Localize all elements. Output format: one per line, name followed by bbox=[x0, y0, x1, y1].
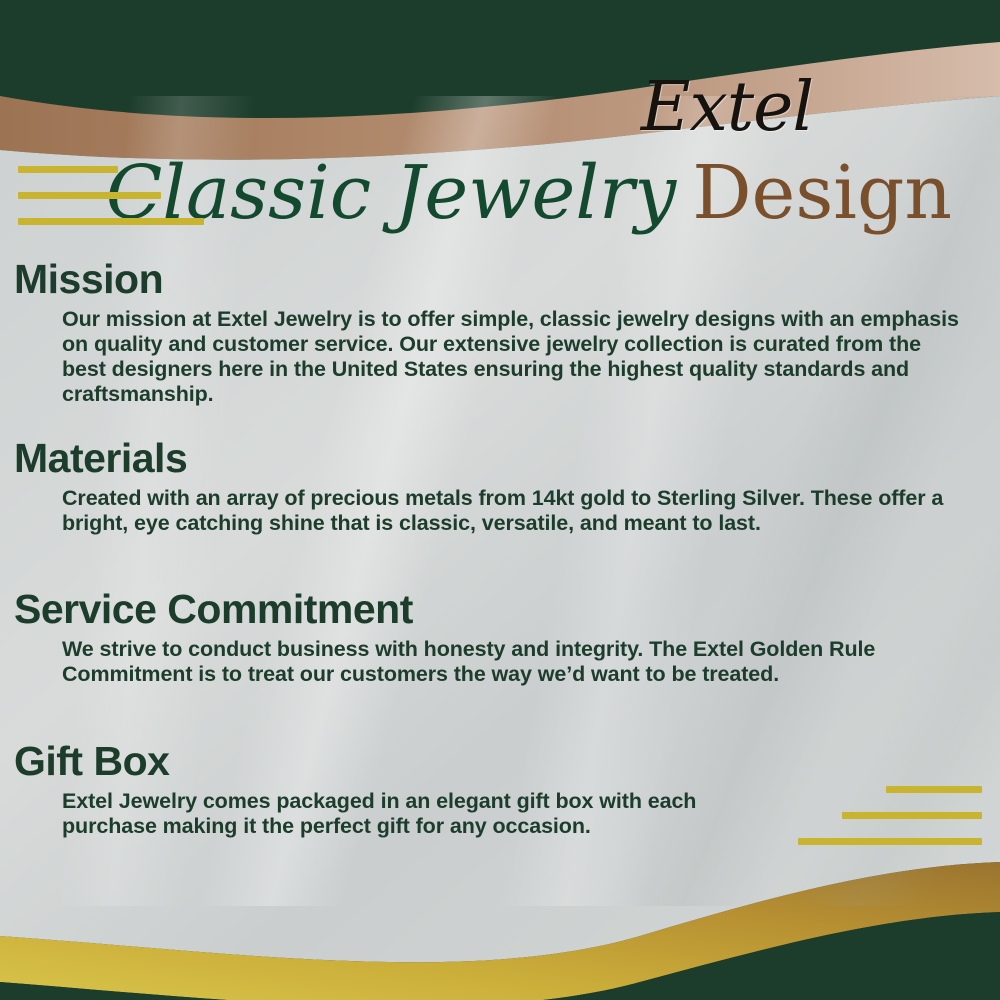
section-mission: Mission Our mission at Extel Jewelry is … bbox=[0, 258, 1000, 407]
decor-rule bbox=[886, 786, 982, 793]
section-body-materials: Created with an array of precious metals… bbox=[0, 486, 1000, 536]
decor-rule bbox=[842, 812, 982, 819]
section-heading-materials: Materials bbox=[0, 437, 1000, 480]
decor-rules-bottom-right bbox=[798, 786, 982, 864]
decor-rule bbox=[18, 218, 204, 225]
section-heading-service-commitment: Service Commitment bbox=[0, 588, 1000, 631]
decor-rule bbox=[798, 838, 982, 845]
brand-info-poster: Extel Classic JewelryDesign Mission Our … bbox=[0, 0, 1000, 1000]
section-heading-gift-box: Gift Box bbox=[0, 740, 1000, 783]
decor-rule bbox=[18, 166, 118, 173]
section-materials: Materials Created with an array of preci… bbox=[0, 437, 1000, 536]
decor-rule bbox=[18, 192, 161, 199]
title-secondary: Design bbox=[692, 150, 952, 236]
brand-logo-script: Extel bbox=[612, 74, 842, 142]
section-body-service-commitment: We strive to conduct business with hones… bbox=[0, 637, 1000, 687]
section-heading-mission: Mission bbox=[0, 258, 1000, 301]
section-body-mission: Our mission at Extel Jewelry is to offer… bbox=[0, 307, 1000, 407]
decor-rules-top-left bbox=[18, 166, 204, 244]
section-service-commitment: Service Commitment We strive to conduct … bbox=[0, 588, 1000, 687]
